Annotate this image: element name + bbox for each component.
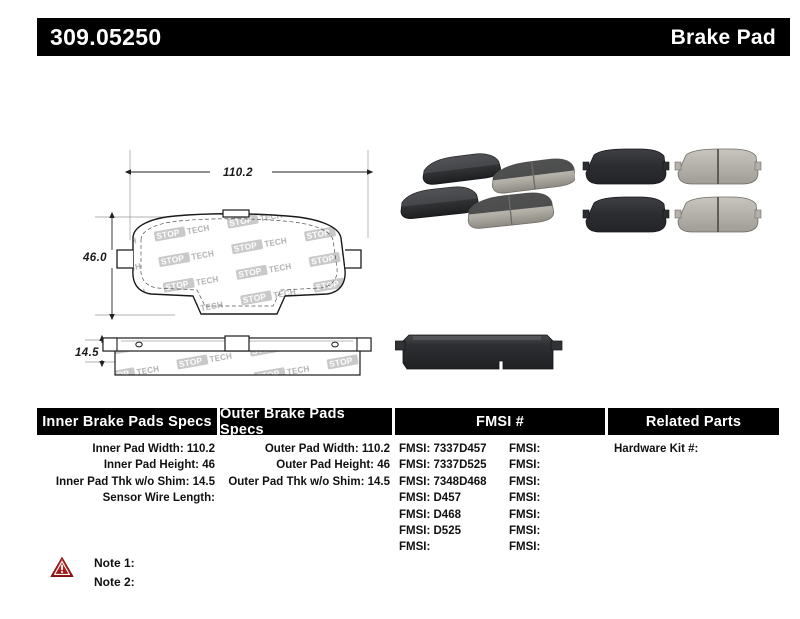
fmsi-code-secondary: FMSI:	[507, 474, 605, 490]
inner-spec-line: Inner Pad Height: 46	[37, 457, 215, 473]
fmsi-row: FMSI: D457FMSI:	[395, 490, 605, 506]
fmsi-row: FMSI: 7337D457FMSI:	[395, 441, 605, 457]
fmsi-code-secondary: FMSI:	[507, 490, 605, 506]
fmsi-code-secondary: FMSI:	[507, 539, 605, 555]
fmsi-row: FMSI: D468FMSI:	[395, 507, 605, 523]
fmsi-code-primary: FMSI: 7337D457	[395, 441, 507, 457]
related-parts-body: Hardware Kit #:	[608, 435, 779, 457]
fmsi-row: FMSI:FMSI:	[395, 539, 605, 555]
photo-pads-angled	[395, 145, 575, 240]
outer-spec-line: Outer Pad Height: 46	[220, 457, 390, 473]
fmsi-code-primary: FMSI: D468	[395, 507, 507, 523]
fmsi-row: FMSI: 7348D468FMSI:	[395, 474, 605, 490]
drawing-area: STOP TECH	[0, 60, 800, 390]
outer-spec-line: Outer Pad Width: 110.2	[220, 441, 390, 457]
note-line: Note 1:	[94, 554, 135, 573]
notes-section: Note 1:Note 2:	[50, 554, 350, 598]
fmsi-code-secondary: FMSI:	[507, 523, 605, 539]
fmsi-code-primary: FMSI: 7337D525	[395, 457, 507, 473]
column-header-inner-specs: Inner Brake Pads Specs	[37, 408, 217, 435]
photo-pads-grid	[580, 145, 765, 240]
specifications-table: Inner Brake Pads Specs Outer Brake Pads …	[37, 408, 779, 538]
photo-pad-edge	[395, 325, 570, 390]
inner-spec-line: Inner Pad Thk w/o Shim: 14.5	[37, 474, 215, 490]
outer-specs-body: Outer Pad Width: 110.2Outer Pad Height: …	[220, 435, 392, 490]
product-type-label: Brake Pad	[671, 27, 776, 48]
pad-side-view	[103, 336, 371, 375]
fmsi-code-primary: FMSI: D457	[395, 490, 507, 506]
fmsi-code-secondary: FMSI:	[507, 441, 605, 457]
technical-drawing: STOP TECH	[55, 110, 400, 390]
fmsi-code-primary: FMSI: 7348D468	[395, 474, 507, 490]
related-part-line: Hardware Kit #:	[614, 441, 779, 457]
fmsi-code-secondary: FMSI:	[507, 507, 605, 523]
fmsi-code-primary: FMSI:	[395, 539, 507, 555]
part-number: 309.05250	[50, 26, 161, 49]
notes-text-block: Note 1:Note 2:	[94, 554, 135, 592]
note-line: Note 2:	[94, 573, 135, 592]
column-header-fmsi: FMSI #	[395, 408, 605, 435]
dimension-height-label: 46.0	[83, 252, 107, 264]
warning-triangle-icon	[50, 556, 74, 578]
fmsi-row: FMSI: D525FMSI:	[395, 523, 605, 539]
outer-spec-line: Outer Pad Thk w/o Shim: 14.5	[220, 474, 390, 490]
inner-spec-line: Inner Pad Width: 110.2	[37, 441, 215, 457]
fmsi-body: FMSI: 7337D457FMSI:FMSI: 7337D525FMSI:FM…	[395, 435, 605, 556]
inner-specs-body: Inner Pad Width: 110.2Inner Pad Height: …	[37, 435, 217, 507]
pad-front-view	[117, 210, 361, 314]
dimension-thickness-label: 14.5	[75, 347, 99, 359]
column-header-related-parts: Related Parts	[608, 408, 779, 435]
column-header-outer-specs: Outer Brake Pads Specs	[220, 408, 392, 435]
product-photo-area	[395, 145, 790, 405]
inner-spec-line: Sensor Wire Length:	[37, 490, 215, 506]
table-header-row: Inner Brake Pads Specs Outer Brake Pads …	[37, 408, 779, 435]
fmsi-code-primary: FMSI: D525	[395, 523, 507, 539]
dimension-width-label: 110.2	[223, 167, 253, 179]
fmsi-code-secondary: FMSI:	[507, 457, 605, 473]
fmsi-row: FMSI: 7337D525FMSI:	[395, 457, 605, 473]
brake-pad-blueprint-svg: STOP TECH	[55, 110, 400, 390]
title-bar: 309.05250 Brake Pad	[37, 18, 790, 56]
